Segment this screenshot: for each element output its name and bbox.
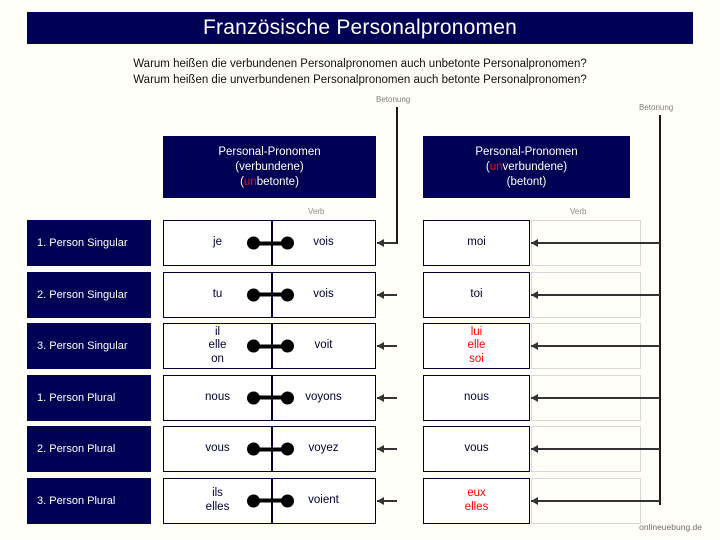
pronoun-word: nous (464, 391, 489, 405)
question-line-1: Warum heißen die verbundenen Personalpro… (0, 56, 720, 72)
header-disjoint-prefix-red: un (490, 161, 503, 173)
liaison-link-icon (247, 340, 294, 353)
disjoint-row: luiellesoi (423, 323, 530, 369)
person-label-text: 3. Person Plural (37, 495, 115, 507)
pronoun-word: moi (467, 236, 486, 250)
link-dot-right (281, 494, 294, 507)
liaison-link-icon (247, 391, 294, 404)
verb-word: voyons (305, 391, 341, 405)
conjoint-row: tuvois (163, 272, 376, 318)
stress-arrow-head-right (531, 445, 538, 453)
pronoun-word: eux (467, 487, 486, 501)
stress-arrow-right (531, 294, 660, 296)
person-label-box: 1. Person Singular (27, 220, 151, 266)
verb-word: voient (308, 494, 339, 508)
stress-arrow-right (531, 397, 660, 399)
header-disjoint-line2: (unverbundene) (486, 160, 567, 175)
conjoint-row: vousvoyez (163, 426, 376, 472)
stress-arrow-right (531, 500, 660, 502)
conjoint-row: jevois (163, 220, 376, 266)
pronoun-word: soi (469, 353, 484, 367)
stress-arrow-right (531, 448, 660, 450)
header-disjoint-line2-rest: verbundene (503, 161, 564, 173)
verb-label-left: Verb (308, 207, 324, 216)
person-label-text: 3. Person Singular (37, 340, 128, 352)
disjoint-row: nous (423, 375, 530, 421)
link-dot-left (247, 237, 260, 250)
pronoun-word: vous (464, 442, 488, 456)
link-dot-right (281, 237, 294, 250)
stress-arrow-head-right (531, 497, 538, 505)
header-disjoint-line3: (betont) (507, 175, 547, 190)
stress-arrow-head-right (531, 291, 538, 299)
pronoun-word: je (213, 236, 222, 250)
page-title: Französische Personalpronomen (27, 12, 693, 44)
stress-arrow-head-left (377, 342, 384, 350)
conjoint-row: ilelleonvoit (163, 323, 376, 369)
header-disjoint-line1: Personal-Pronomen (475, 145, 577, 160)
verb-word: vois (313, 236, 333, 250)
stress-arrow-head-left (377, 497, 384, 505)
betonung-label-left: Betonung (376, 95, 410, 104)
pronoun-word: elle (209, 339, 227, 353)
pronoun-word: il (215, 326, 220, 340)
pronoun-word: elle (468, 339, 486, 353)
verb-word: vois (313, 288, 333, 302)
person-label-box: 1. Person Plural (27, 375, 151, 421)
liaison-link-icon (247, 494, 294, 507)
person-label-box: 2. Person Plural (27, 426, 151, 472)
link-dot-left (247, 494, 260, 507)
verb-word: voyez (308, 442, 338, 456)
worksheet-canvas: Französische Personalpronomen Warum heiß… (0, 0, 720, 540)
pronoun-word: elles (465, 501, 489, 515)
pronoun-word: elles (206, 501, 230, 515)
liaison-link-icon (247, 237, 294, 250)
person-label-text: 2. Person Plural (37, 443, 115, 455)
stress-arrow-right (531, 345, 660, 347)
person-label-text: 1. Person Plural (37, 392, 115, 404)
stress-arrow-head-left (377, 394, 384, 402)
stress-arrow-head-left (377, 445, 384, 453)
disjoint-row: euxelles (423, 478, 530, 524)
pronoun-word: on (211, 353, 224, 367)
betonung-line-right (659, 115, 661, 505)
person-label-text: 2. Person Singular (37, 289, 128, 301)
footer-credit: onlineuebung.de (639, 522, 702, 532)
link-dot-left (247, 340, 260, 353)
verb-word: voit (315, 339, 333, 353)
header-box-conjoint: Personal-Pronomen (verbundene) (unbetont… (163, 136, 376, 198)
stress-arrow-right (531, 242, 660, 244)
betonung-label-right: Betonung (639, 103, 673, 112)
betonung-line-left (396, 107, 398, 244)
pronoun-word: tu (213, 288, 223, 302)
stress-arrow-head-right (531, 342, 538, 350)
verb-label-right: Verb (570, 207, 586, 216)
conjoint-row: ilsellesvoient (163, 478, 376, 524)
header-conjoint-line3: (unbetonte) (240, 175, 299, 190)
question-line-2: Warum heißen die unverbundenen Personalp… (0, 72, 720, 88)
link-dot-right (281, 288, 294, 301)
header-conjoint-line1: Personal-Pronomen (218, 145, 320, 160)
question-block: Warum heißen die verbundenen Personalpro… (0, 56, 720, 88)
link-dot-right (281, 391, 294, 404)
stress-arrow-head-right (531, 239, 538, 247)
pronoun-word: nous (205, 391, 230, 405)
stress-arrow-head-left (377, 239, 384, 247)
header-box-disjoint: Personal-Pronomen (unverbundene) (betont… (423, 136, 630, 198)
disjoint-row: vous (423, 426, 530, 472)
pronoun-word: toi (470, 288, 482, 302)
pronoun-word: ils (212, 487, 223, 501)
link-dot-left (247, 391, 260, 404)
disjoint-row: toi (423, 272, 530, 318)
person-label-box: 2. Person Singular (27, 272, 151, 318)
header-conjoint-prefix-red: un (244, 176, 257, 188)
stress-arrow-head-right (531, 394, 538, 402)
header-conjoint-line2: (verbundene) (235, 160, 303, 175)
link-dot-left (247, 443, 260, 456)
person-label-box: 3. Person Plural (27, 478, 151, 524)
link-dot-right (281, 340, 294, 353)
person-label-box: 3. Person Singular (27, 323, 151, 369)
liaison-link-icon (247, 288, 294, 301)
stress-arrow-head-left (377, 291, 384, 299)
person-label-text: 1. Person Singular (37, 237, 128, 249)
pronoun-word: lui (471, 326, 483, 340)
disjoint-row: moi (423, 220, 530, 266)
link-dot-right (281, 443, 294, 456)
conjoint-row: nousvoyons (163, 375, 376, 421)
header-conjoint-line3-rest: betonte (257, 176, 295, 188)
liaison-link-icon (247, 443, 294, 456)
pronoun-word: vous (205, 442, 229, 456)
link-dot-left (247, 288, 260, 301)
